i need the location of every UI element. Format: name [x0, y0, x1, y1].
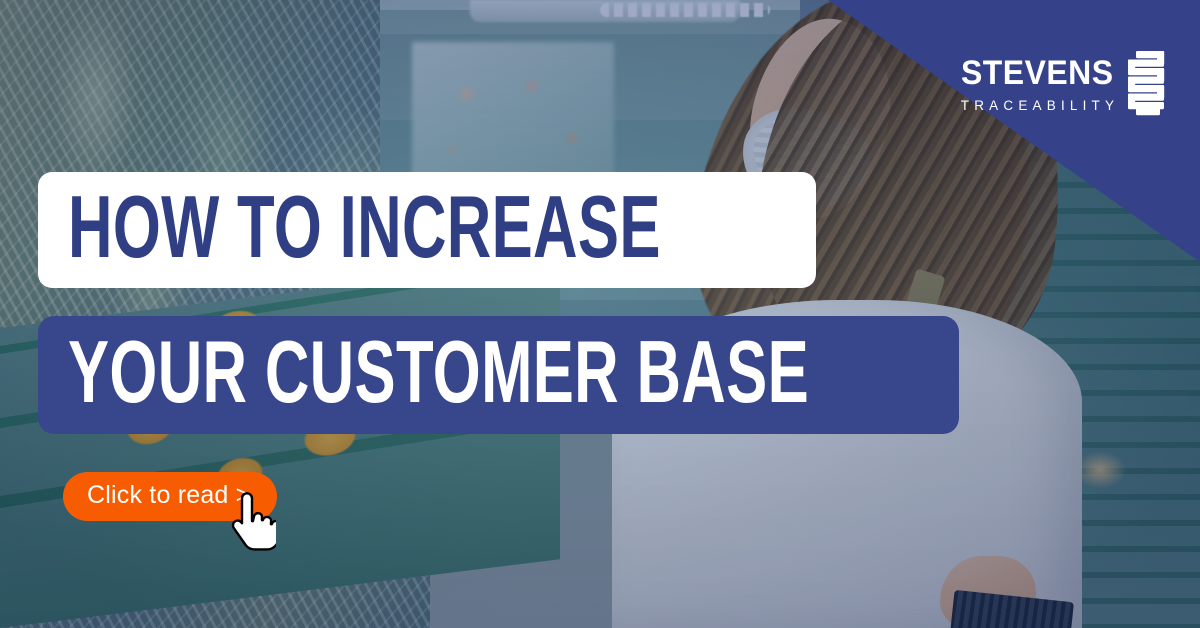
logo-tagline: TRACEABILITY	[961, 99, 1119, 113]
pointing-hand-cursor-icon	[228, 492, 276, 554]
logo-text-group: STEVENS TRACEABILITY	[961, 50, 1123, 113]
logo-wordmark: STEVENS	[961, 56, 1113, 90]
headline-line-2-box: YOUR CUSTOMER BASE	[38, 316, 959, 434]
headline-line-2-text: YOUR CUSTOMER BASE	[68, 328, 674, 416]
stevens-traceability-logo[interactable]: STEVENS TRACEABILITY	[961, 50, 1166, 116]
promotional-banner: STEVENS TRACEABILITY HOW	[0, 0, 1200, 628]
headline-line-1-text: HOW TO INCREASE	[68, 183, 573, 271]
headline-line-1-box: HOW TO INCREASE	[38, 172, 816, 288]
stevens-serpentine-s-mark-icon	[1124, 50, 1166, 116]
